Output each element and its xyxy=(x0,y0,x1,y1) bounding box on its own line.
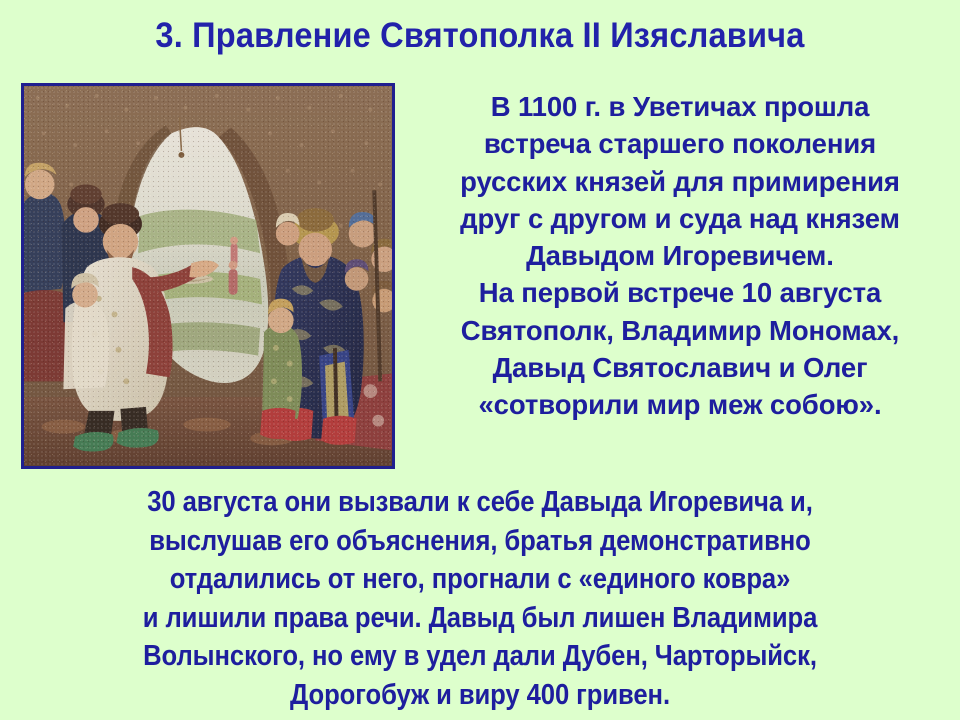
intro-line: Давыдом Игоревичем. xyxy=(406,237,954,274)
closing-line: Дорогобуж и виру 400 гривен. xyxy=(48,676,912,715)
closing-line: выслушав его объяснения, братья демонстр… xyxy=(48,522,912,561)
closing-paragraph: 30 августа они вызвали к себе Давыда Иго… xyxy=(0,483,960,714)
page-title: 3. Правление Святополка II Изяславича xyxy=(34,16,927,56)
painting-artwork xyxy=(24,86,392,466)
closing-line: отдалились от него, прогнали с «единого … xyxy=(48,560,912,599)
intro-line: На первой встрече 10 августа xyxy=(406,274,954,311)
intro-line: В 1100 г. в Уветичах прошла xyxy=(406,88,954,125)
historical-painting xyxy=(21,83,395,469)
presentation-slide: 3. Правление Святополка II Изяславича xyxy=(0,0,960,720)
intro-line: Давыд Святославич и Олег xyxy=(406,349,954,386)
closing-line: 30 августа они вызвали к себе Давыда Иго… xyxy=(48,483,912,522)
intro-line: Святополк, Владимир Мономах, xyxy=(406,312,954,349)
intro-line: русских князей для примирения xyxy=(406,163,954,200)
intro-line: друг с другом и суда над князем xyxy=(406,200,954,237)
intro-line: «сотворили мир меж собою». xyxy=(406,386,954,423)
closing-line: и лишили права речи. Давыд был лишен Вла… xyxy=(48,599,912,638)
closing-line: Волынского, но ему в удел дали Дубен, Ча… xyxy=(48,637,912,676)
intro-line: встреча старшего поколения xyxy=(406,125,954,162)
intro-paragraph: В 1100 г. в Уветичах прошла встреча стар… xyxy=(406,88,954,424)
